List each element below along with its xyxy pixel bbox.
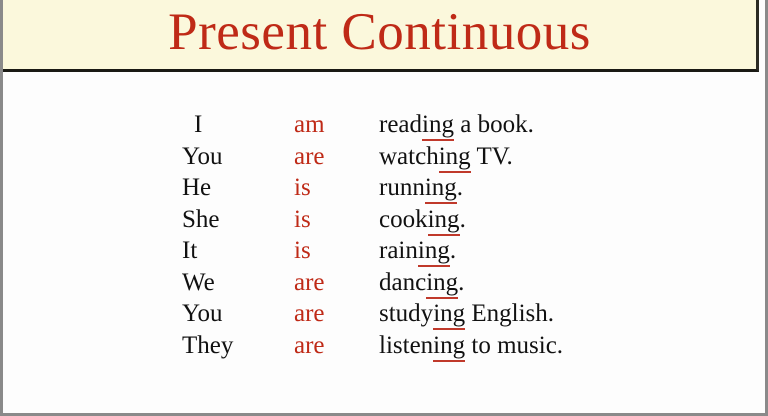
auxiliary-verb-cell: are	[294, 267, 379, 299]
ing-suffix-underlined: ing	[433, 300, 465, 330]
verb-phrase-cell: cooking.	[379, 204, 563, 236]
subject-cell: They	[178, 330, 294, 362]
subject-cell: It	[178, 235, 294, 267]
subject-cell: He	[178, 172, 294, 204]
ing-suffix-underlined: ing	[426, 269, 458, 299]
verb-object: .	[450, 237, 456, 264]
slide-header: Present Continuous	[3, 0, 759, 72]
verb-phrase-cell: listening to music.	[379, 330, 563, 362]
verb-stem: cook	[379, 206, 428, 233]
table-row: Heisrunning.	[178, 172, 563, 204]
verb-stem: study	[379, 300, 433, 327]
auxiliary-verb-cell: are	[294, 141, 379, 173]
auxiliary-verb-cell: am	[294, 109, 379, 141]
verb-phrase-cell: studying English.	[379, 298, 563, 330]
conjugation-table-body: Iamreading a book.Youarewatching TV.Heis…	[178, 109, 563, 361]
ing-suffix-underlined: ing	[425, 174, 457, 204]
verb-object: .	[458, 269, 464, 296]
verb-stem: rain	[379, 237, 418, 264]
verb-phrase-cell: dancing.	[379, 267, 563, 299]
table-row: Youarewatching TV.	[178, 141, 563, 173]
auxiliary-verb-cell: is	[294, 204, 379, 236]
ing-suffix-underlined: ing	[428, 206, 460, 236]
verb-object: .	[460, 206, 466, 233]
subject-cell: You	[178, 298, 294, 330]
page-title: Present Continuous	[168, 6, 591, 63]
verb-stem: danc	[379, 269, 426, 296]
subject-cell: She	[178, 204, 294, 236]
verb-object: English.	[465, 300, 554, 327]
ing-suffix-underlined: ing	[439, 143, 471, 173]
ing-suffix-underlined: ing	[418, 237, 450, 267]
auxiliary-verb-cell: are	[294, 330, 379, 362]
table-row: Theyarelistening to music.	[178, 330, 563, 362]
table-row: Youarestudying English.	[178, 298, 563, 330]
verb-object: a book.	[454, 111, 534, 138]
verb-phrase-cell: watching TV.	[379, 141, 563, 173]
present-continuous-slide: Present Continuous Iamreading a book.You…	[0, 0, 768, 416]
verb-stem: read	[379, 111, 422, 138]
table-row: Sheiscooking.	[178, 204, 563, 236]
verb-object: to music.	[465, 332, 563, 359]
subject-cell: I	[178, 109, 294, 141]
verb-stem: runn	[379, 174, 425, 201]
table-row: Iamreading a book.	[178, 109, 563, 141]
verb-phrase-cell: running.	[379, 172, 563, 204]
ing-suffix-underlined: ing	[422, 111, 454, 141]
verb-object: TV.	[471, 143, 513, 170]
table-row: Wearedancing.	[178, 267, 563, 299]
auxiliary-verb-cell: are	[294, 298, 379, 330]
ing-suffix-underlined: ing	[433, 332, 465, 362]
verb-phrase-cell: raining.	[379, 235, 563, 267]
auxiliary-verb-cell: is	[294, 172, 379, 204]
slide-body: Iamreading a book.Youarewatching TV.Heis…	[3, 75, 765, 413]
subject-cell: We	[178, 267, 294, 299]
verb-stem: listen	[379, 332, 433, 359]
verb-phrase-cell: reading a book.	[379, 109, 563, 141]
verb-object: .	[457, 174, 463, 201]
verb-stem: watch	[379, 143, 439, 170]
conjugation-table: Iamreading a book.Youarewatching TV.Heis…	[178, 109, 563, 361]
subject-cell: You	[178, 141, 294, 173]
table-row: Itisraining.	[178, 235, 563, 267]
auxiliary-verb-cell: is	[294, 235, 379, 267]
